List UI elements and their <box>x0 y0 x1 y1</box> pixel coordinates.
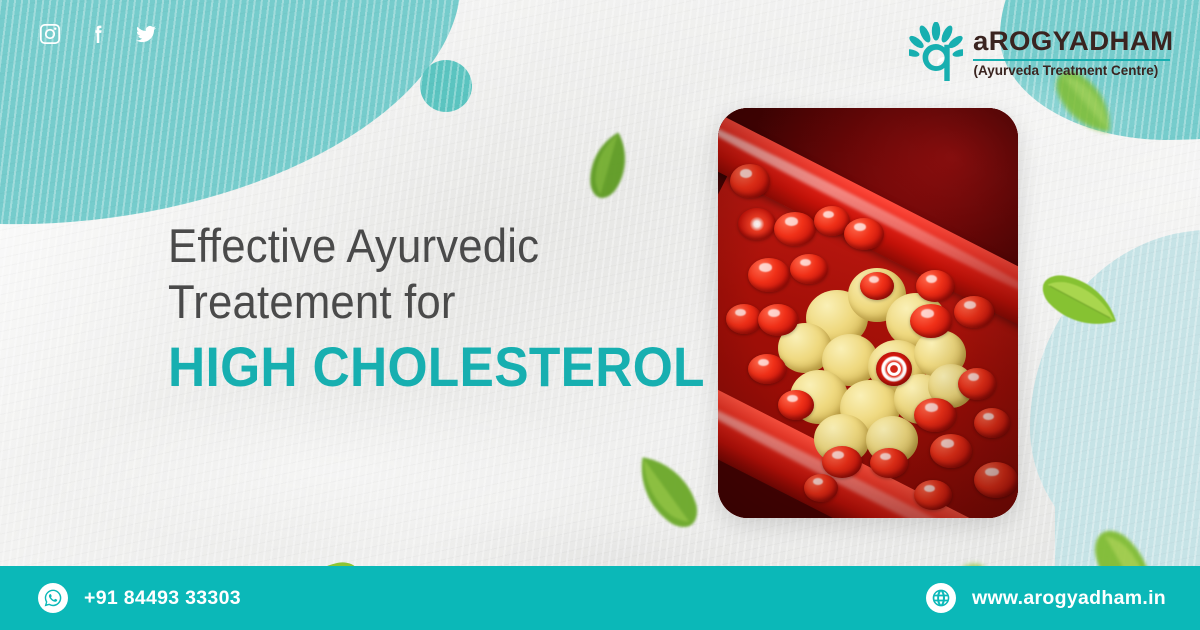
brand-logo[interactable]: aROGYADHAM (Ayurveda Treatment Centre) <box>909 22 1170 84</box>
headline-emphasis: HIGH CHOLESTEROL <box>168 334 646 400</box>
facebook-icon <box>86 22 110 46</box>
social-link-instagram[interactable] <box>38 22 62 46</box>
website-url: www.arogyadham.in <box>972 587 1166 610</box>
headline-line-1: Effective Ayurvedic <box>168 218 652 274</box>
social-link-facebook[interactable] <box>86 22 110 46</box>
social-links <box>38 22 158 46</box>
contact-website[interactable]: www.arogyadham.in <box>926 583 1166 613</box>
contact-phone[interactable]: +91 84493 33303 <box>38 583 241 613</box>
page-title: Effective Ayurvedic Treatement for HIGH … <box>168 218 688 400</box>
hero-image-card <box>718 108 1018 518</box>
brand-tagline: (Ayurveda Treatment Centre) <box>973 64 1158 79</box>
headline-line-2: Treatement for <box>168 274 652 330</box>
instagram-icon <box>38 22 62 46</box>
logo-divider <box>973 59 1170 61</box>
logo-text-block: aROGYADHAM (Ayurveda Treatment Centre) <box>973 28 1170 79</box>
whatsapp-icon <box>38 583 68 613</box>
teal-circle-accent <box>420 60 472 112</box>
phone-number: +91 84493 33303 <box>84 587 241 610</box>
brand-name: aROGYADHAM <box>973 28 1173 55</box>
leaf-icon <box>618 439 715 543</box>
blood-vessel-cholesterol-illustration <box>718 108 1018 518</box>
twitter-icon <box>134 22 158 46</box>
social-link-twitter[interactable] <box>134 22 158 46</box>
footer-contact-bar: +91 84493 33303 www.arogyadham.in <box>0 566 1200 630</box>
poster-canvas: aROGYADHAM (Ayurveda Treatment Centre) E… <box>0 0 1200 630</box>
ayurveda-leaf-a-icon <box>909 22 963 84</box>
globe-icon <box>926 583 956 613</box>
leaf-icon <box>577 125 641 205</box>
